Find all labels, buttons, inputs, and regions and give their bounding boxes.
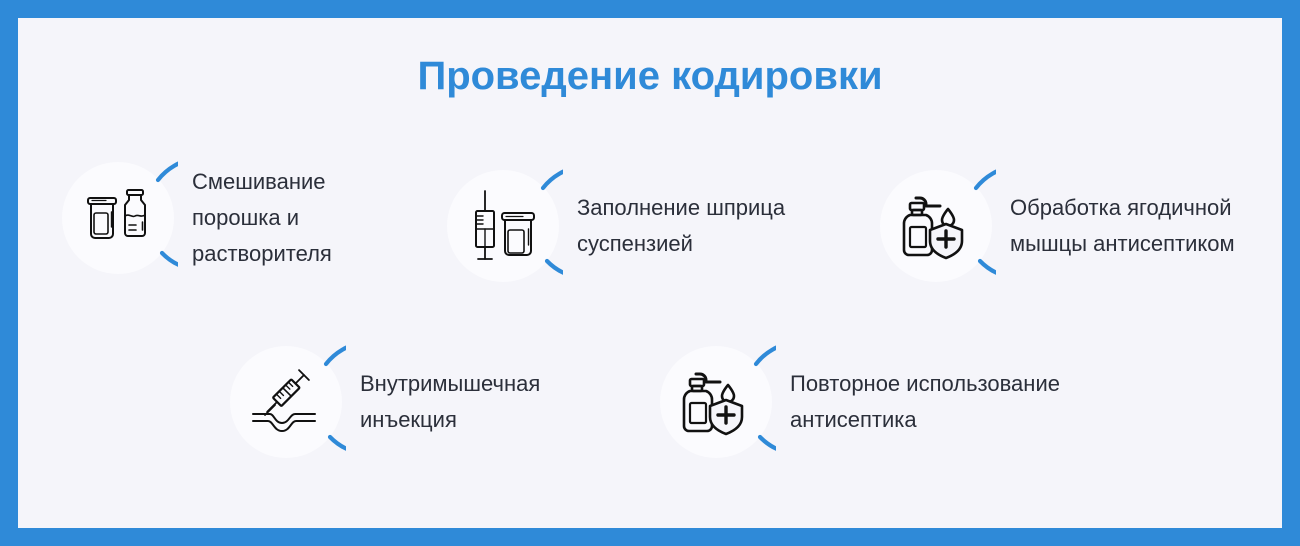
page-title: Проведение кодировки: [18, 54, 1282, 99]
step-item-2[interactable]: Заполнение шприца суспензией: [443, 166, 785, 286]
step-item-3[interactable]: Обработка ягодичной мышцы антисептиком: [876, 166, 1235, 286]
step-item-1[interactable]: Смешивание порошка и растворителя: [58, 158, 332, 278]
step-badge-2: [443, 166, 563, 286]
step-item-4[interactable]: Внутримышечная инъекция: [226, 342, 540, 462]
step-badge-5: [656, 342, 776, 462]
step-badge-4: [226, 342, 346, 462]
step-item-5[interactable]: Повторное использование антисептика: [656, 342, 1060, 462]
step-badge-3: [876, 166, 996, 286]
step-label-5: Повторное использование антисептика: [790, 366, 1060, 438]
powder-jar-and-solvent-bottle-icon: [58, 158, 178, 278]
step-badge-1: [58, 158, 178, 278]
intramuscular-injection-icon: [226, 342, 346, 462]
step-label-4: Внутримышечная инъекция: [360, 366, 540, 438]
infographic-panel: Проведение кодировки: [18, 18, 1282, 528]
syringe-and-vial-icon: [443, 166, 563, 286]
step-label-3: Обработка ягодичной мышцы антисептиком: [1010, 190, 1235, 262]
step-label-1: Смешивание порошка и растворителя: [192, 164, 332, 272]
antiseptic-dispenser-shield-icon: [656, 342, 776, 462]
antiseptic-dispenser-shield-icon: [876, 166, 996, 286]
outer-blue-frame: Проведение кодировки: [0, 0, 1300, 546]
step-label-2: Заполнение шприца суспензией: [577, 190, 785, 262]
